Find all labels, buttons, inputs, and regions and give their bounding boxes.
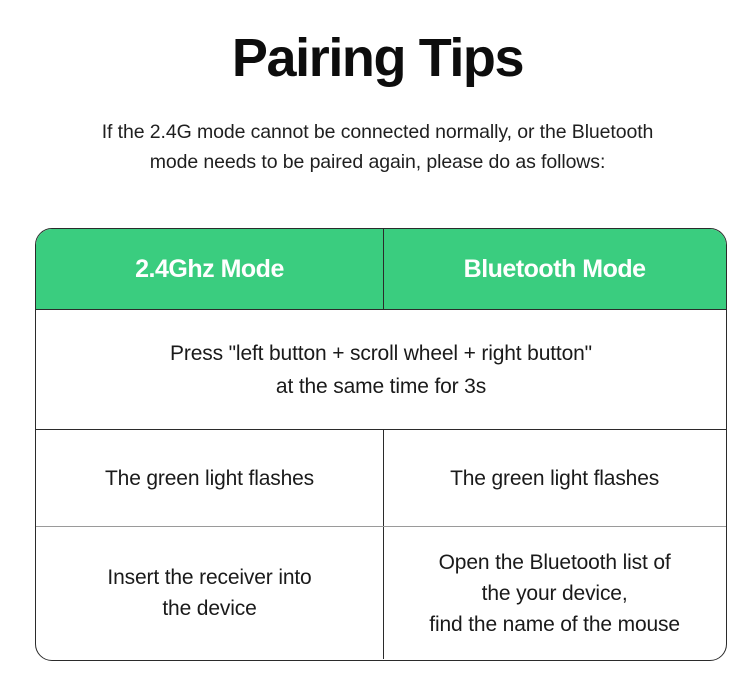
merged-instruction-cell: Press "left button + scroll wheel + righ…: [36, 310, 726, 429]
table-row: The green light flashes The green light …: [36, 430, 726, 527]
table-row: Insert the receiver into the device Open…: [36, 527, 726, 659]
page-subtitle: If the 2.4G mode cannot be connected nor…: [42, 117, 713, 177]
cell-bluetooth-final: Open the Bluetooth list of the your devi…: [384, 527, 725, 659]
cell-line: The green light flashes: [105, 463, 314, 494]
cell-line: find the name of the mouse: [429, 609, 680, 640]
cell-line: the your device,: [482, 578, 628, 609]
column-header-bluetooth: Bluetooth Mode: [384, 229, 725, 309]
subtitle-line-2: mode needs to be paired again, please do…: [42, 147, 713, 177]
subtitle-line-1: If the 2.4G mode cannot be connected nor…: [42, 117, 713, 147]
cell-24ghz-final: Insert the receiver into the device: [36, 527, 384, 659]
column-header-24ghz: 2.4Ghz Mode: [36, 229, 384, 309]
page-title: Pairing Tips: [0, 26, 755, 90]
cell-line: Insert the receiver into: [107, 562, 311, 593]
merged-line-2: at the same time for 3s: [276, 370, 486, 403]
cell-line: The green light flashes: [450, 463, 659, 494]
cell-line: Open the Bluetooth list of: [439, 547, 671, 578]
cell-bluetooth-light: The green light flashes: [384, 430, 725, 526]
cell-line: the device: [162, 593, 256, 624]
pairing-steps-table: 2.4Ghz Mode Bluetooth Mode Press "left b…: [35, 228, 727, 661]
pairing-tips-page: Pairing Tips If the 2.4G mode cannot be …: [0, 0, 755, 675]
table-row-merged-press: Press "left button + scroll wheel + righ…: [36, 310, 726, 430]
table-header-row: 2.4Ghz Mode Bluetooth Mode: [36, 229, 726, 310]
cell-24ghz-light: The green light flashes: [36, 430, 384, 526]
merged-line-1: Press "left button + scroll wheel + righ…: [170, 337, 592, 370]
